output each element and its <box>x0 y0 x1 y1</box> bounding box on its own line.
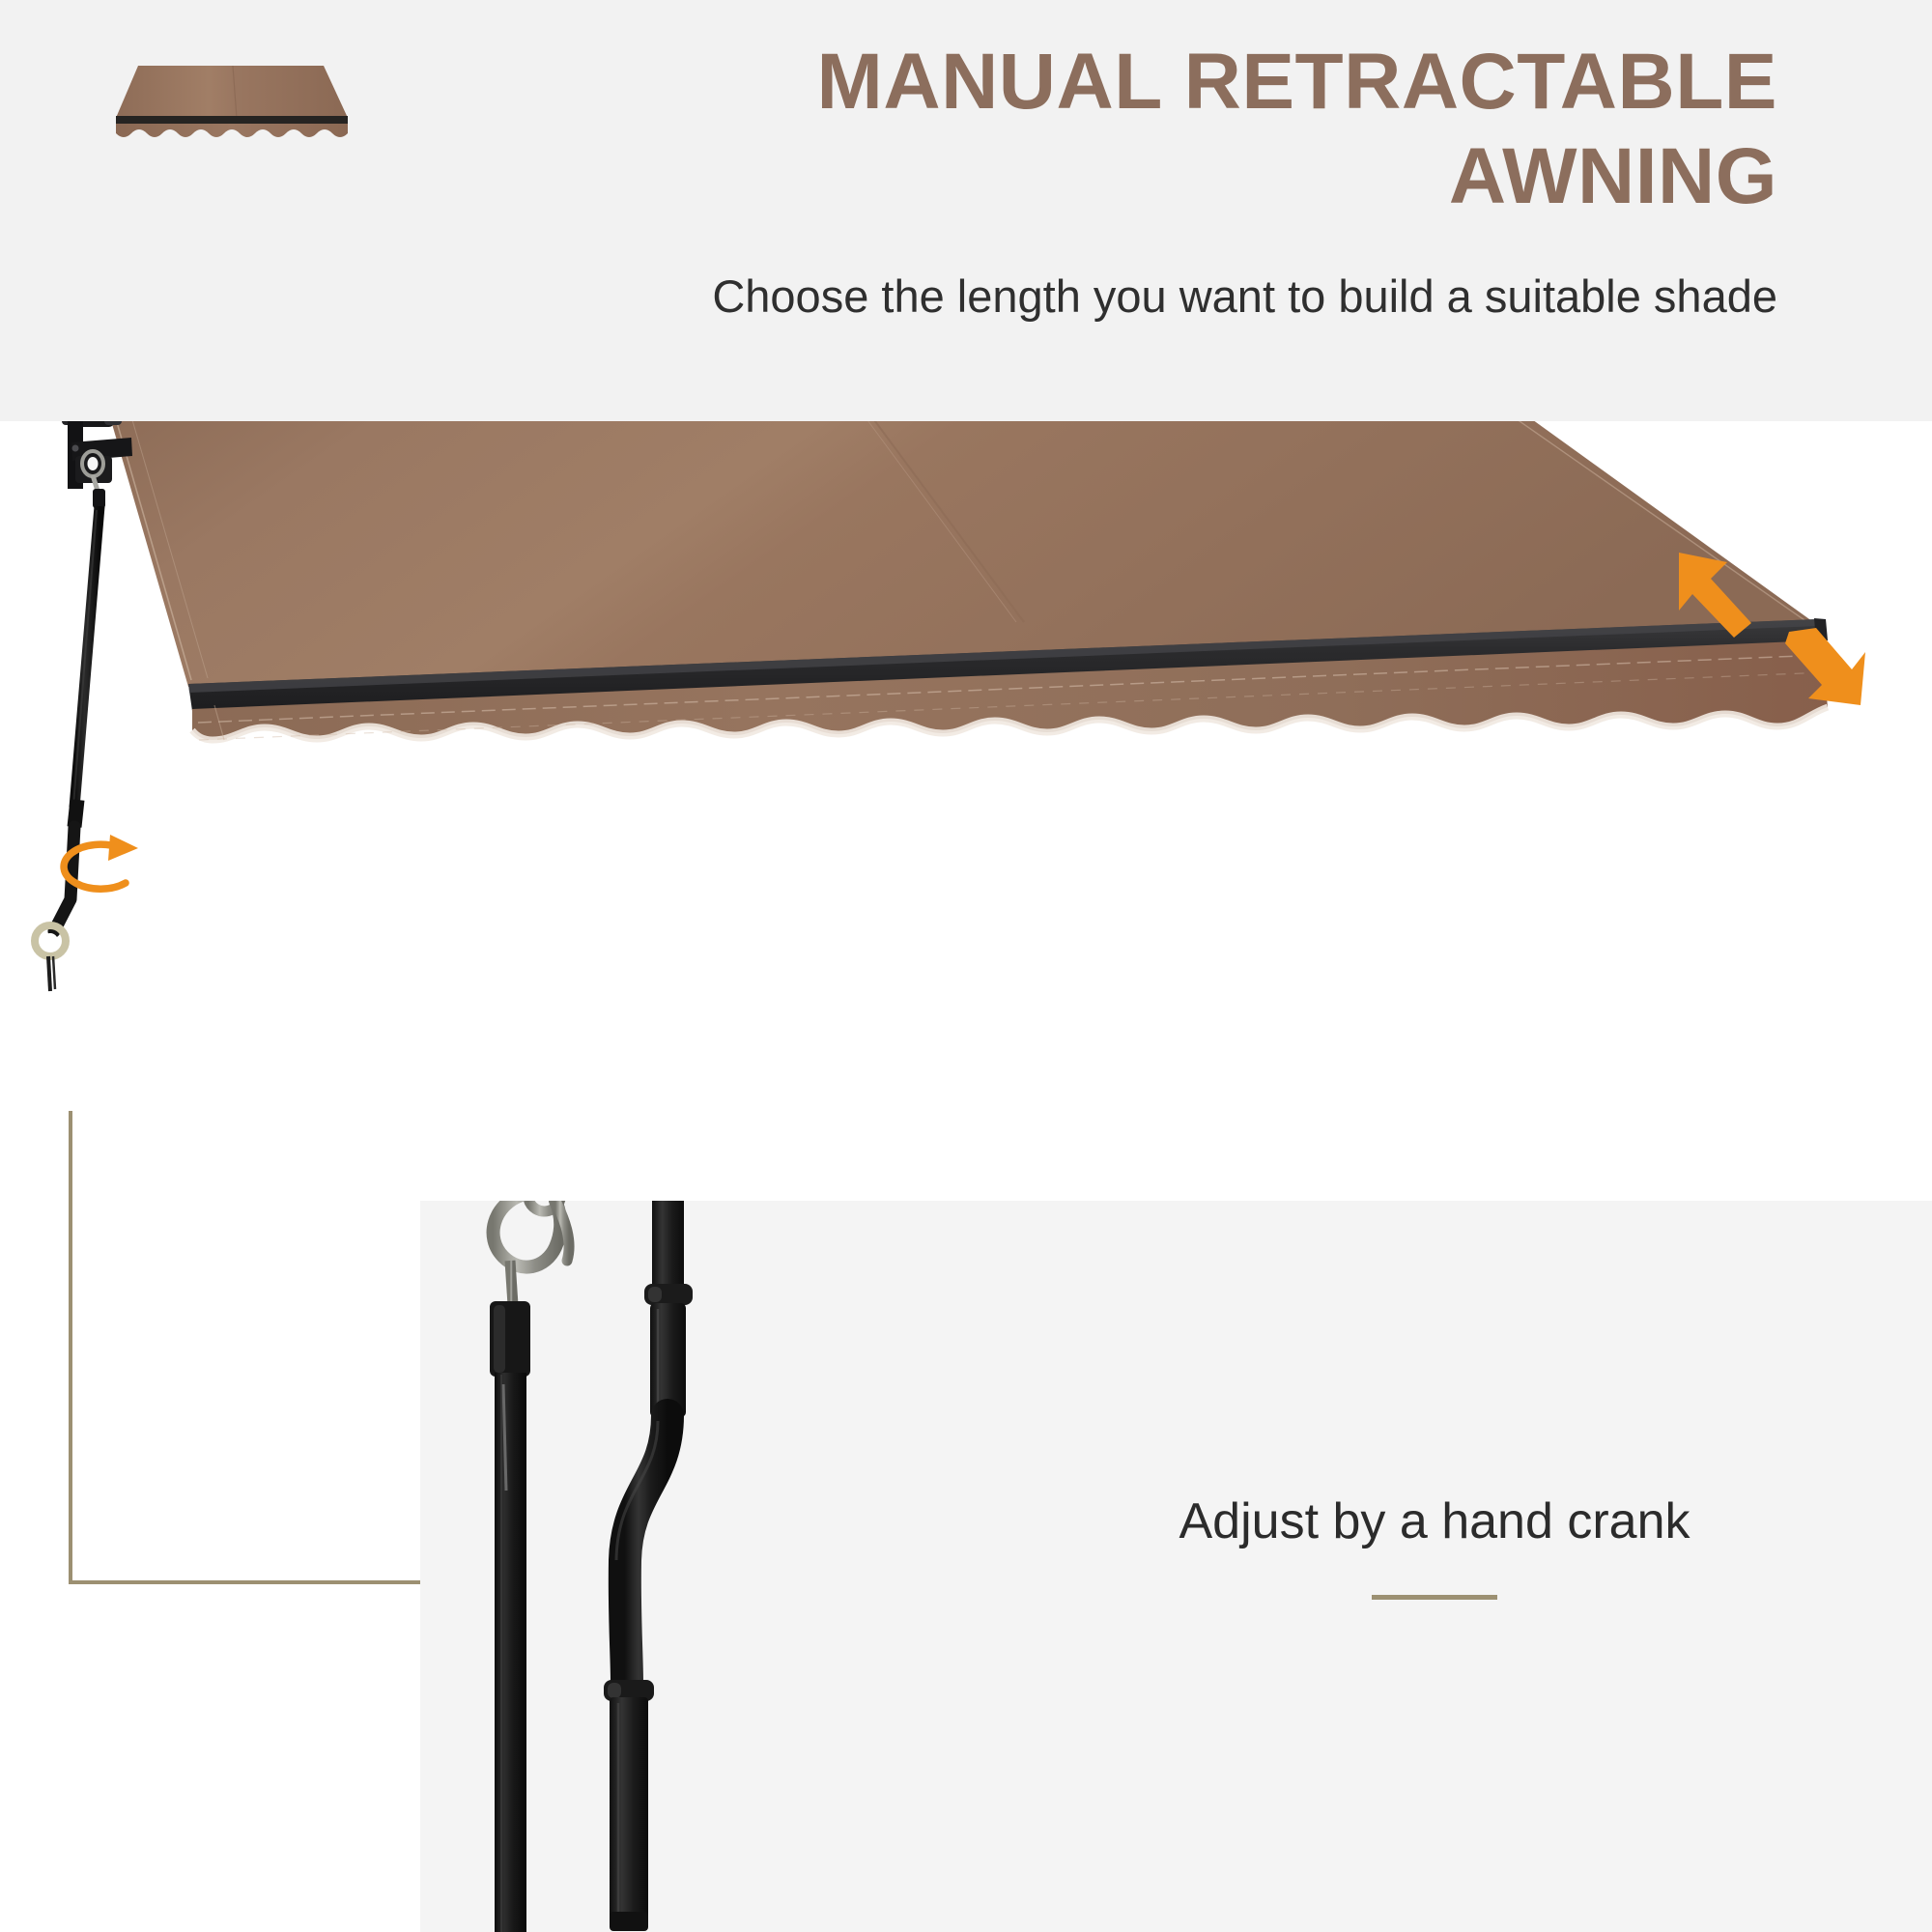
infographic-page: MANUAL RETRACTABLE AWNING Choose the len… <box>0 0 1932 1932</box>
detail-caption-text: Adjust by a hand crank <box>980 1491 1889 1552</box>
hand-crank-illustration <box>420 1201 961 1932</box>
hand-crank-icon <box>604 1201 693 1931</box>
rotation-arrow-icon <box>46 823 157 915</box>
title-line-1: MANUAL RETRACTABLE <box>406 35 1777 129</box>
caption-divider <box>1372 1595 1497 1600</box>
awning-hero-illustration <box>0 421 1932 1213</box>
detail-caption: Adjust by a hand crank <box>980 1491 1889 1600</box>
callout-connector-line <box>58 1111 444 1594</box>
page-title: MANUAL RETRACTABLE AWNING <box>406 35 1777 224</box>
title-line-2: AWNING <box>406 129 1777 224</box>
crank-rod <box>35 506 99 991</box>
awning-thumbnail-icon <box>92 39 348 155</box>
hook-icon <box>494 1201 570 1305</box>
hand-crank-detail-panel: Adjust by a hand crank <box>420 1201 1932 1932</box>
header-band: MANUAL RETRACTABLE AWNING Choose the len… <box>0 0 1932 421</box>
page-subtitle: Choose the length you want to build a su… <box>406 269 1777 325</box>
double-diagonal-arrow-icon <box>1642 541 1869 720</box>
